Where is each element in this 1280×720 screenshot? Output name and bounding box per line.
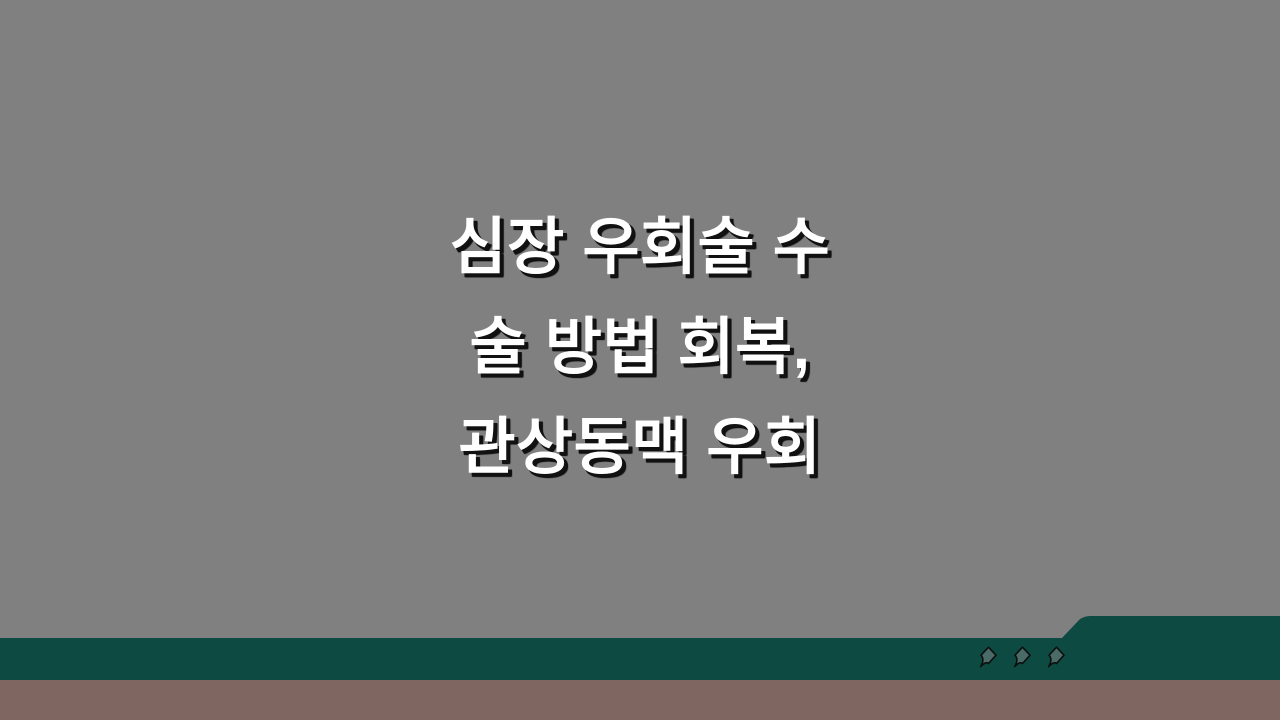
slide-title: 심장 우회술 수 술 방법 회복, 관상동맥 우회 (0, 198, 1280, 498)
title-line-2: 술 방법 회복, (0, 298, 1280, 398)
diamond-icon (1046, 645, 1066, 669)
slide-canvas: 심장 우회술 수 술 방법 회복, 관상동맥 우회 (0, 0, 1280, 720)
title-line-3: 관상동맥 우회 (0, 398, 1280, 498)
footer-decor-icon-group (978, 645, 1066, 669)
diamond-icon (1012, 645, 1032, 669)
title-line-1: 심장 우회술 수 (0, 198, 1280, 298)
diamond-icon (978, 645, 998, 669)
footer-base-bar (0, 680, 1280, 720)
